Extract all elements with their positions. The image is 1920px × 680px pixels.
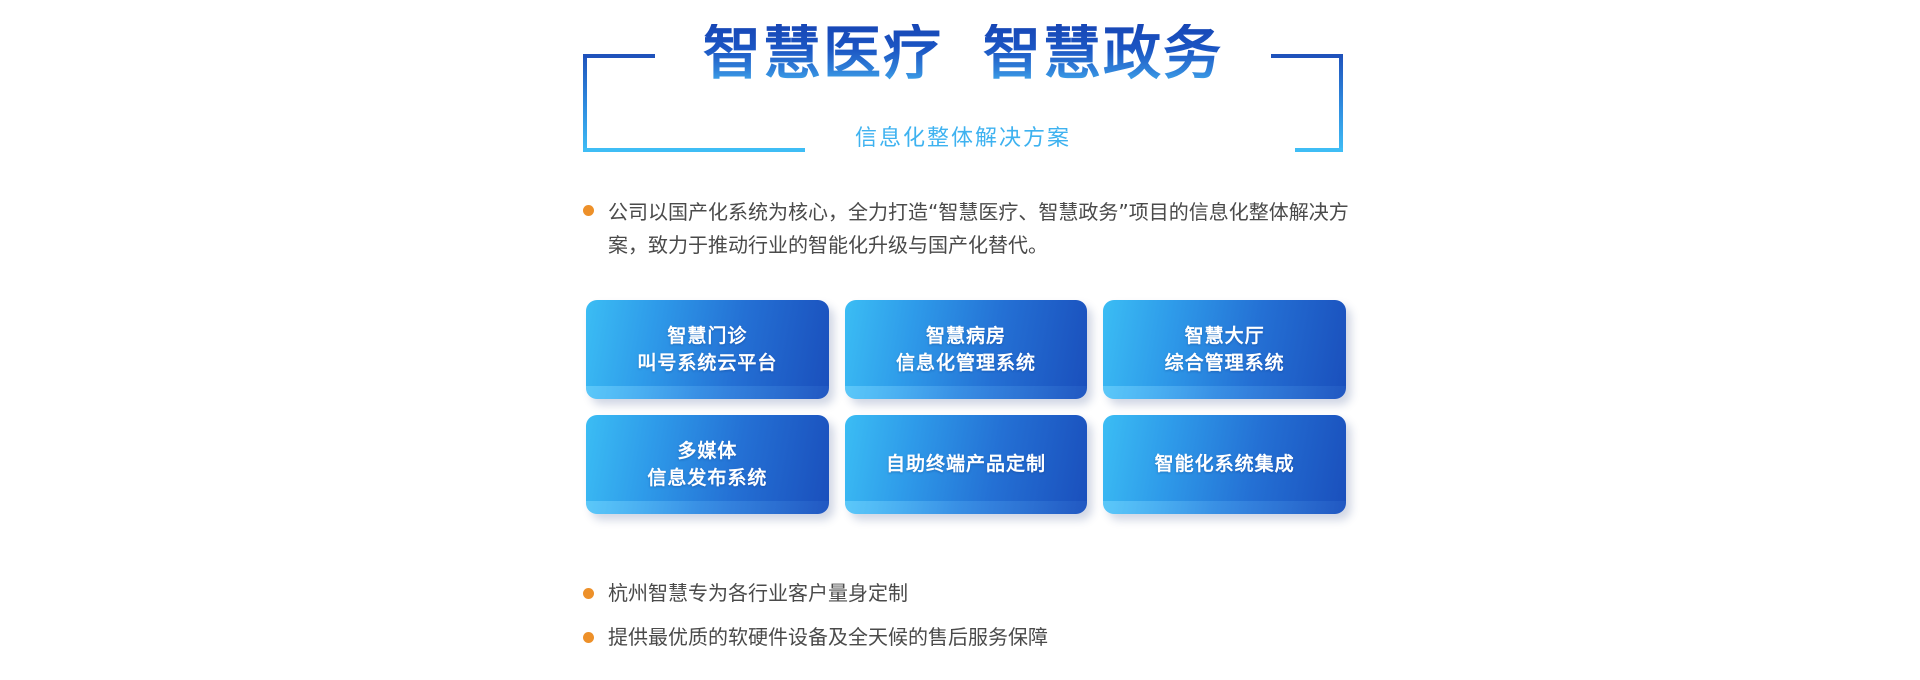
solution-card-label: 智慧大厅 综合管理系统 [1165,323,1285,377]
list-item: 杭州智慧专为各行业客户量身定制 [583,580,1383,606]
page-subtitle: 信息化整体解决方案 [583,120,1343,152]
bullet-dot-icon [583,632,594,643]
solution-card[interactable]: 智慧门诊 叫号系统云平台 [586,300,829,399]
page-title: 智慧医疗智慧政务 [583,24,1343,82]
solution-card[interactable]: 智能化系统集成 [1103,415,1346,514]
header-banner: 智慧医疗智慧政务 信息化整体解决方案 [583,24,1343,152]
intro-text: 公司以国产化系统为核心，全力打造“智慧医疗、智慧政务”项目的信息化整体解决方案，… [608,196,1383,262]
solution-card-label: 智慧门诊 叫号系统云平台 [637,323,777,377]
solution-card[interactable]: 多媒体 信息发布系统 [586,415,829,514]
solution-card-label: 智能化系统集成 [1155,451,1295,478]
footer-item-text: 提供最优质的软硬件设备及全天候的售后服务保障 [608,624,1048,650]
solution-card-label: 多媒体 信息发布系统 [647,438,767,492]
bullet-dot-icon [583,205,594,216]
subtitle-label: 信息化整体解决方案 [855,120,1071,152]
solution-card-grid: 智慧门诊 叫号系统云平台 智慧病房 信息化管理系统 智慧大厅 综合管理系统 多媒… [586,300,1346,514]
bullet-dot-icon [583,588,594,599]
solution-card[interactable]: 智慧大厅 综合管理系统 [1103,300,1346,399]
footer-bullet-list: 杭州智慧专为各行业客户量身定制 提供最优质的软硬件设备及全天候的售后服务保障 [583,580,1383,668]
intro-paragraph: 公司以国产化系统为核心，全力打造“智慧医疗、智慧政务”项目的信息化整体解决方案，… [583,196,1383,262]
page-root: 智慧医疗智慧政务 信息化整体解决方案 公司以国产化系统为核心，全力打造“智慧医疗… [0,0,1920,680]
title-smart-government: 智慧政务 [983,24,1223,82]
solution-card-label: 自助终端产品定制 [886,451,1046,478]
list-item: 提供最优质的软硬件设备及全天候的售后服务保障 [583,624,1383,650]
solution-card-label: 智慧病房 信息化管理系统 [896,323,1036,377]
solution-card[interactable]: 智慧病房 信息化管理系统 [845,300,1088,399]
solution-card[interactable]: 自助终端产品定制 [845,415,1088,514]
footer-item-text: 杭州智慧专为各行业客户量身定制 [608,580,908,606]
title-smart-healthcare: 智慧医疗 [703,24,943,82]
